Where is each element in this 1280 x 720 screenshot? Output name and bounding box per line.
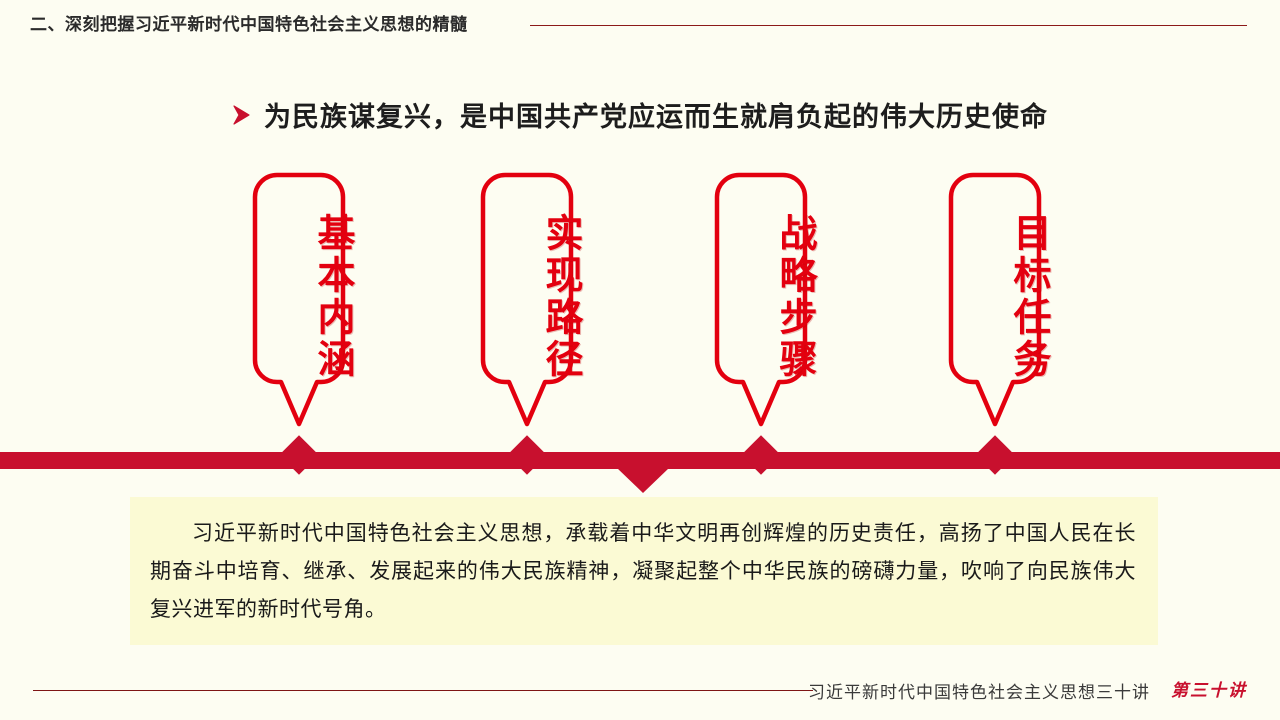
- pin-label: 实现路径: [475, 202, 579, 392]
- slide-footer: 习近平新时代中国特色社会主义思想三十讲 第三十讲: [0, 668, 1280, 720]
- section-title-row: 为民族谋复兴，是中国共产党应运而生就肩负起的伟大历史使命: [0, 92, 1280, 136]
- pin-basic-connotation[interactable]: 基本内涵: [247, 172, 351, 427]
- footer-divider-line: [33, 690, 813, 691]
- pin-goal-task[interactable]: 目标任务: [943, 172, 1047, 427]
- pin-label: 基本内涵: [247, 202, 351, 392]
- slide-header: 二、深刻把握习近平新时代中国特色社会主义思想的精髓: [0, 0, 1280, 52]
- footer-source-text: 习近平新时代中国特色社会主义思想三十讲: [808, 678, 1150, 703]
- footer-lecture-badge: 第三十讲: [1171, 676, 1247, 701]
- pin-label: 目标任务: [943, 202, 1047, 392]
- header-divider-line: [530, 25, 1247, 26]
- section-title-text: 为民族谋复兴，是中国共产党应运而生就肩负起的伟大历史使命: [264, 95, 1048, 134]
- timeline-bar: [0, 452, 1280, 469]
- arrow-right-bullet-icon: [232, 104, 252, 126]
- pin-label: 战略步骤: [709, 202, 813, 392]
- pin-strategic-steps[interactable]: 战略步骤: [709, 172, 813, 427]
- summary-paragraph: 习近平新时代中国特色社会主义思想，承载着中华文明再创辉煌的历史责任，高扬了中国人…: [150, 515, 1136, 629]
- timeline-area: 基本内涵 实现路径 战略步骤 目标任务: [0, 160, 1280, 490]
- timeline-down-arrow-marker: [617, 468, 669, 493]
- pin-realization-path[interactable]: 实现路径: [475, 172, 579, 427]
- summary-text-box: 习近平新时代中国特色社会主义思想，承载着中华文明再创辉煌的历史责任，高扬了中国人…: [130, 497, 1158, 645]
- page-title: 二、深刻把握习近平新时代中国特色社会主义思想的精髓: [30, 14, 468, 36]
